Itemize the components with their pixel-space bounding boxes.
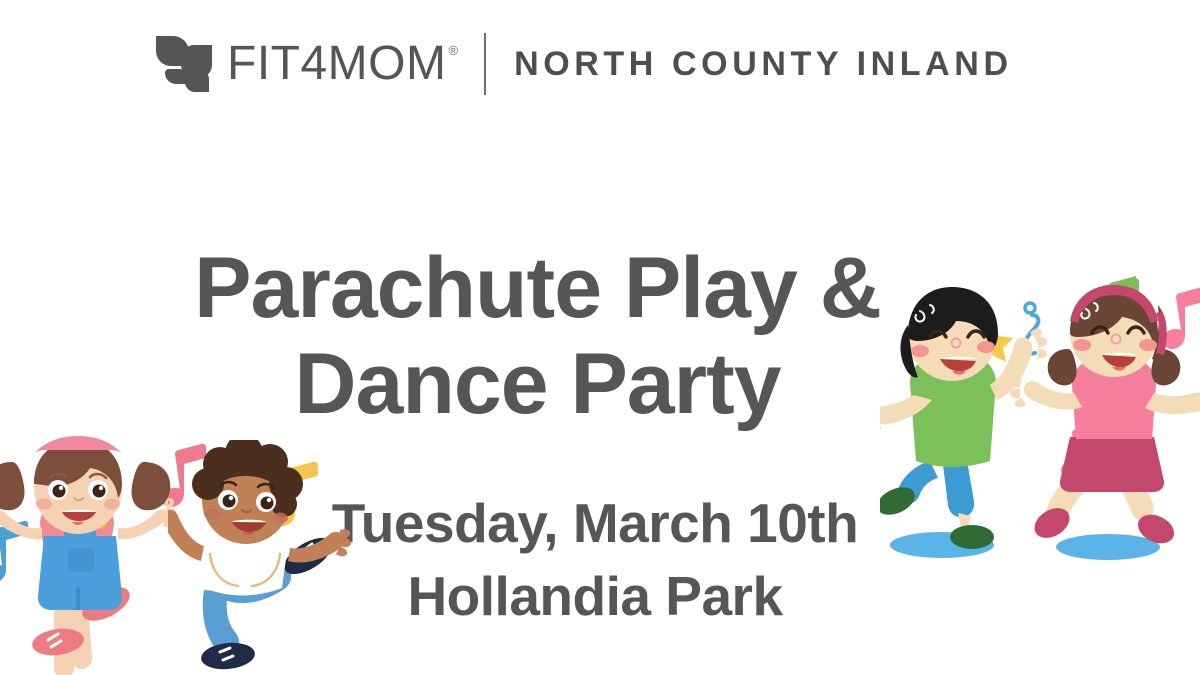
left-girl-figure xyxy=(0,436,176,675)
right-boy-shoe-front xyxy=(950,525,994,549)
brand-wordmark-group: FIT4MOM ® xyxy=(227,40,458,88)
lockup-divider xyxy=(484,33,486,95)
brand-lockup: FIT4MOM ® NORTH COUNTY INLAND xyxy=(155,33,1013,95)
right-girl-shadow xyxy=(1056,534,1160,560)
poster-canvas: FIT4MOM ® NORTH COUNTY INLAND Parachute … xyxy=(0,0,1200,675)
right-girl-skirt xyxy=(1060,437,1164,492)
left-boy-illustration xyxy=(168,440,353,675)
fit4mom-pinwheel-icon xyxy=(155,35,213,93)
right-boy-figure xyxy=(880,287,1047,549)
boy-shoe-left xyxy=(200,640,256,672)
brand-wordmark: FIT4MOM xyxy=(227,40,446,88)
music-note-blue-icon xyxy=(0,521,28,675)
right-girl-hand-left xyxy=(1010,377,1026,407)
right-kids-illustration xyxy=(880,275,1200,585)
chapter-name: NORTH COUNTY INLAND xyxy=(514,47,1013,81)
music-note-pink-right-icon xyxy=(1163,287,1200,349)
right-girl-pigtail-left xyxy=(1048,349,1077,385)
registered-trademark-icon: ® xyxy=(448,44,458,57)
girl-pigtail-left xyxy=(0,462,25,510)
